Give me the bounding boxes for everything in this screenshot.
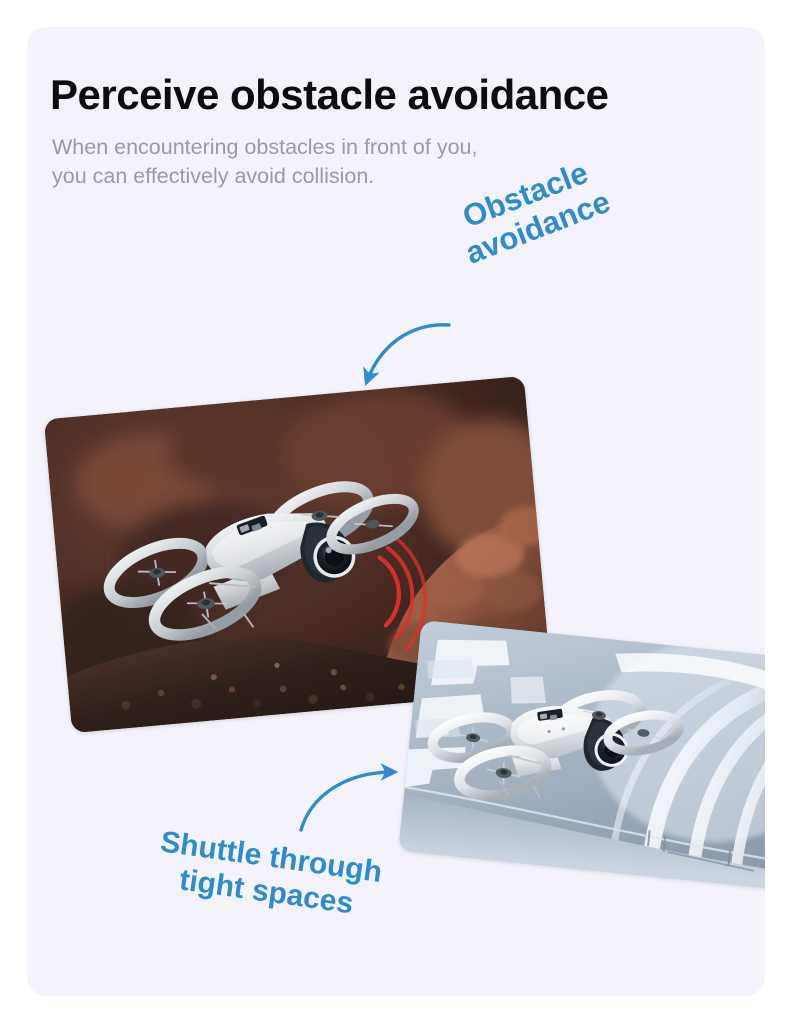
photo-drone-in-tunnel-corridor [398, 620, 765, 890]
product-feature-graphic: Perceive obstacle avoidance When encount… [0, 0, 790, 1035]
feature-panel: Perceive obstacle avoidance When encount… [27, 27, 765, 996]
curved-arrow-up-right-icon [295, 762, 405, 837]
page-title: Perceive obstacle avoidance [50, 73, 750, 118]
